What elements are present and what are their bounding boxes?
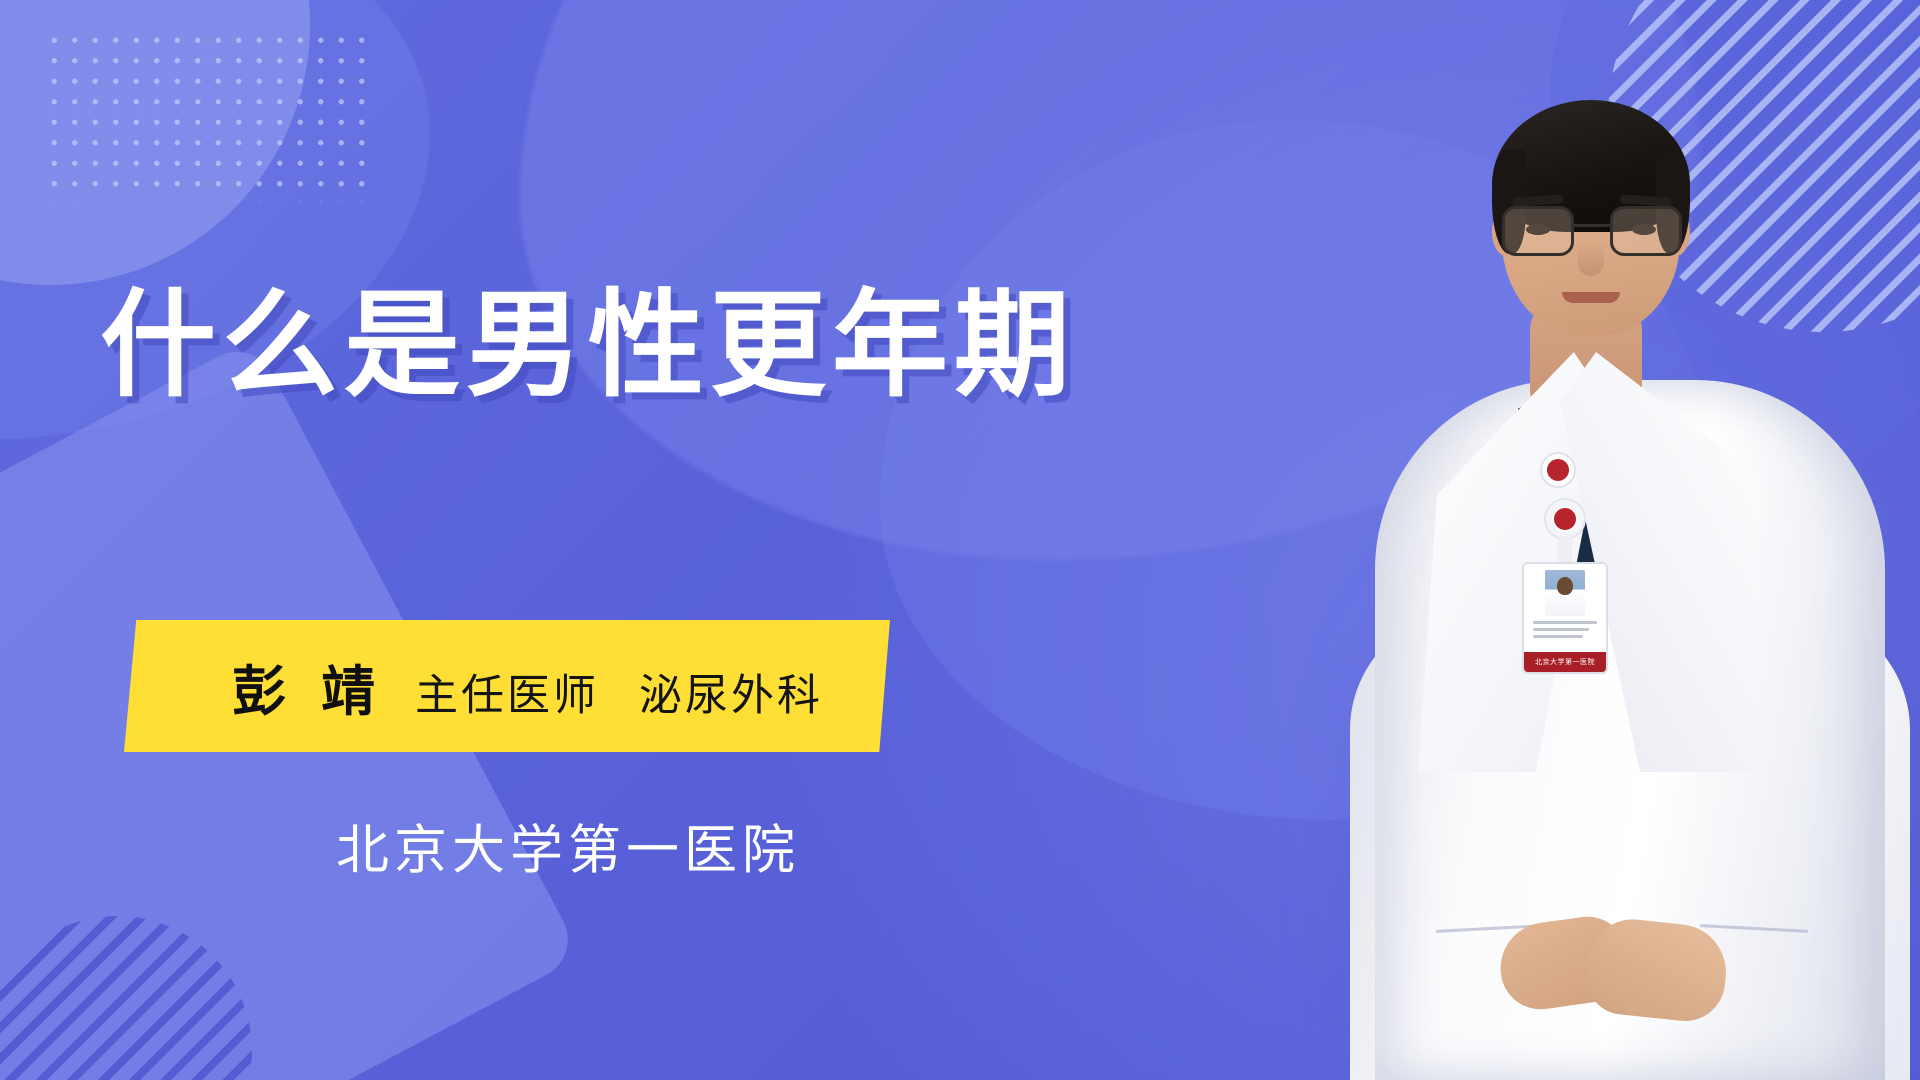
speaker-role: 主任医师 — [415, 661, 599, 723]
speaker-name: 彭 靖 — [232, 647, 385, 726]
page-title: 什么是男性更年期 — [100, 283, 1076, 408]
speaker-department: 泌尿外科 — [639, 661, 823, 723]
speaker-name-banner: 彭 靖 主任医师 泌尿外科 — [124, 620, 890, 752]
speaker-name-banner-inner: 彭 靖 主任医师 泌尿外科 — [124, 647, 823, 726]
video-cover-slide: 北京大学第一医院 什么是男性更年期 彭 靖 主任医师 泌尿外科 北京大学第一医院 — [0, 0, 1920, 1080]
text-content: 什么是男性更年期 彭 靖 主任医师 泌尿外科 北京大学第一医院 — [0, 0, 1920, 1080]
speaker-hospital: 北京大学第一医院 — [336, 808, 800, 884]
